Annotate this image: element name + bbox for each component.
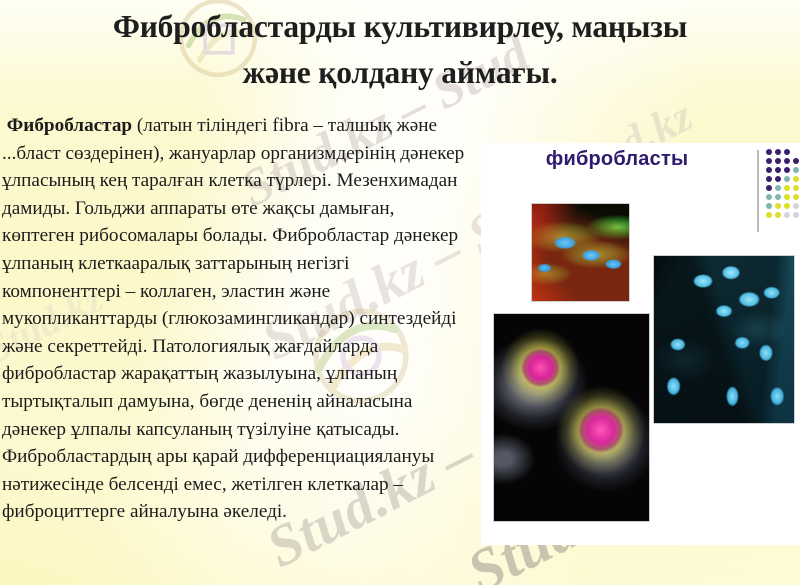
- dot-1-1: [775, 158, 781, 164]
- dot-4-2: [784, 185, 790, 191]
- dot-5-0: [766, 194, 772, 200]
- presentation-slide: Stud.kz Stud.kz – Stud Stud.kz – Stud St…: [0, 0, 800, 585]
- dot-3-3: [793, 176, 799, 182]
- dot-0-2: [784, 149, 790, 155]
- dot-3-2: [784, 176, 790, 182]
- dot-5-1: [775, 194, 781, 200]
- slide-title: Фибробластарды культивирлеу, маңызы және…: [30, 0, 770, 96]
- dot-6-3: [793, 203, 799, 209]
- dot-3-1: [775, 176, 781, 182]
- dot-5-3: [793, 194, 799, 200]
- slide-body-text: Фибробластар (латын тіліндегі fibra – та…: [2, 112, 468, 526]
- dot-2-0: [766, 167, 772, 173]
- decorative-dot-grid-icon: [766, 149, 800, 219]
- body-paragraph: (латын тіліндегі fibra – талшық және ...…: [2, 115, 464, 522]
- fibroblast-cytoskeleton-image: [493, 313, 650, 522]
- dot-3-0: [766, 176, 772, 182]
- dot-2-2: [784, 167, 790, 173]
- image-panel: фибробласты: [481, 143, 800, 545]
- dot-0-1: [775, 149, 781, 155]
- dot-0-0: [766, 149, 772, 155]
- fibroblast-phase-contrast-image: [653, 255, 795, 424]
- dot-7-1: [775, 212, 781, 218]
- dot-5-2: [784, 194, 790, 200]
- fibroblast-fluorescence-image: [531, 203, 630, 302]
- dot-7-3: [793, 212, 799, 218]
- dot-6-0: [766, 203, 772, 209]
- dot-6-1: [775, 203, 781, 209]
- dot-7-0: [766, 212, 772, 218]
- dot-6-2: [784, 203, 790, 209]
- panel-divider: [757, 150, 759, 232]
- dot-7-2: [784, 212, 790, 218]
- slide-title-line-2: және қолдану аймағы.: [242, 55, 557, 90]
- dot-0-3: [793, 149, 799, 155]
- slide-title-line-1: Фибробластарды культивирлеу, маңызы: [113, 9, 687, 44]
- body-lead-term: Фибробластар: [7, 115, 132, 136]
- dot-4-3: [793, 185, 799, 191]
- dot-1-3: [793, 158, 799, 164]
- dot-1-0: [766, 158, 772, 164]
- dot-2-3: [793, 167, 799, 173]
- dot-1-2: [784, 158, 790, 164]
- image-panel-heading: фибробласты: [481, 148, 753, 171]
- dot-4-1: [775, 185, 781, 191]
- dot-4-0: [766, 185, 772, 191]
- dot-2-1: [775, 167, 781, 173]
